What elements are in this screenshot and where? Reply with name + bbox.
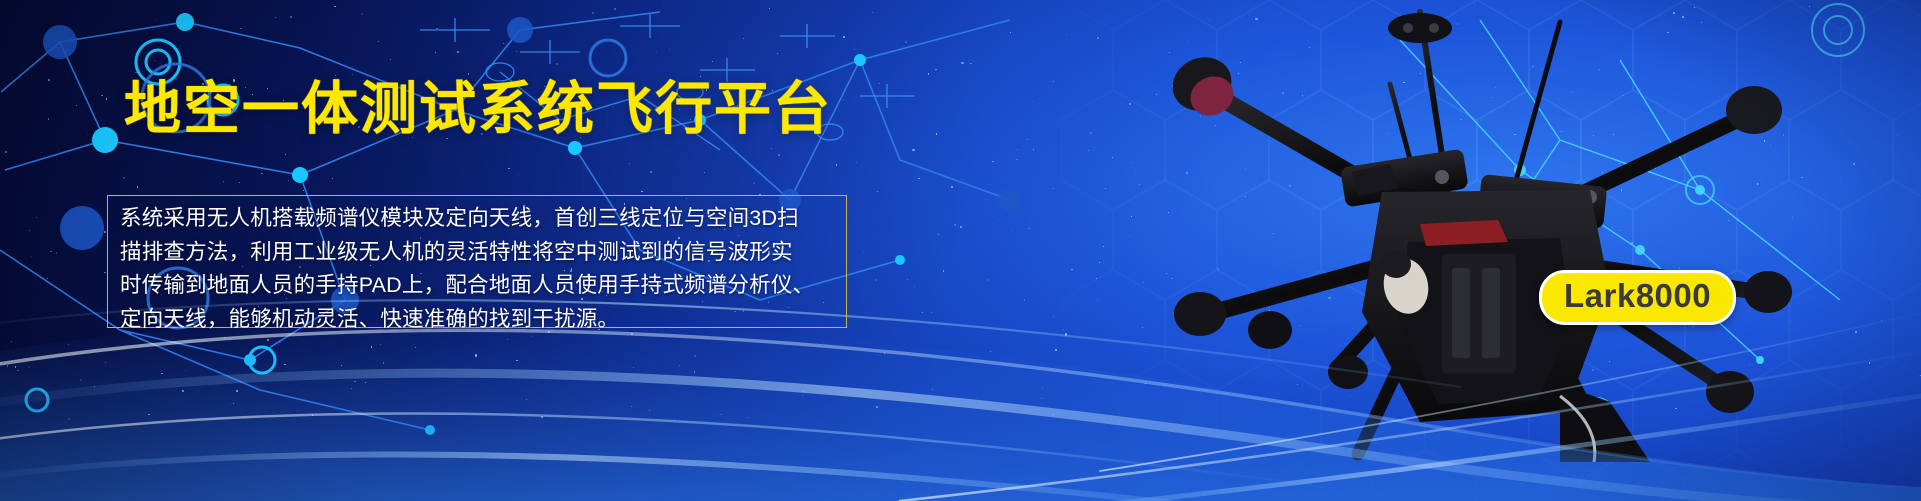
page-title: 地空一体测试系统飞行平台 (124, 78, 832, 140)
product-banner: 地空一体测试系统飞行平台 系统采用无人机搭载频谱仪模块及定向天线，首创三线定位与… (0, 0, 1921, 501)
description-line-3: 时传输到地面人员的手持PAD上，配合地面人员使用手持式频谱分析仪、 (120, 269, 836, 303)
description-line-4: 定向天线，能够机动灵活、快速准确的找到干扰源。 (120, 303, 836, 337)
description-line-2: 描排查方法，利用工业级无人机的灵活特性将空中测试到的信号波形实 (120, 236, 836, 270)
product-model-badge: Lark8000 (1539, 270, 1736, 325)
description-line-1: 系统采用无人机搭载频谱仪模块及定向天线，首创三线定位与空间3D扫 (120, 202, 836, 236)
description-box: 系统采用无人机搭载频谱仪模块及定向天线，首创三线定位与空间3D扫 描排查方法，利… (107, 195, 847, 328)
